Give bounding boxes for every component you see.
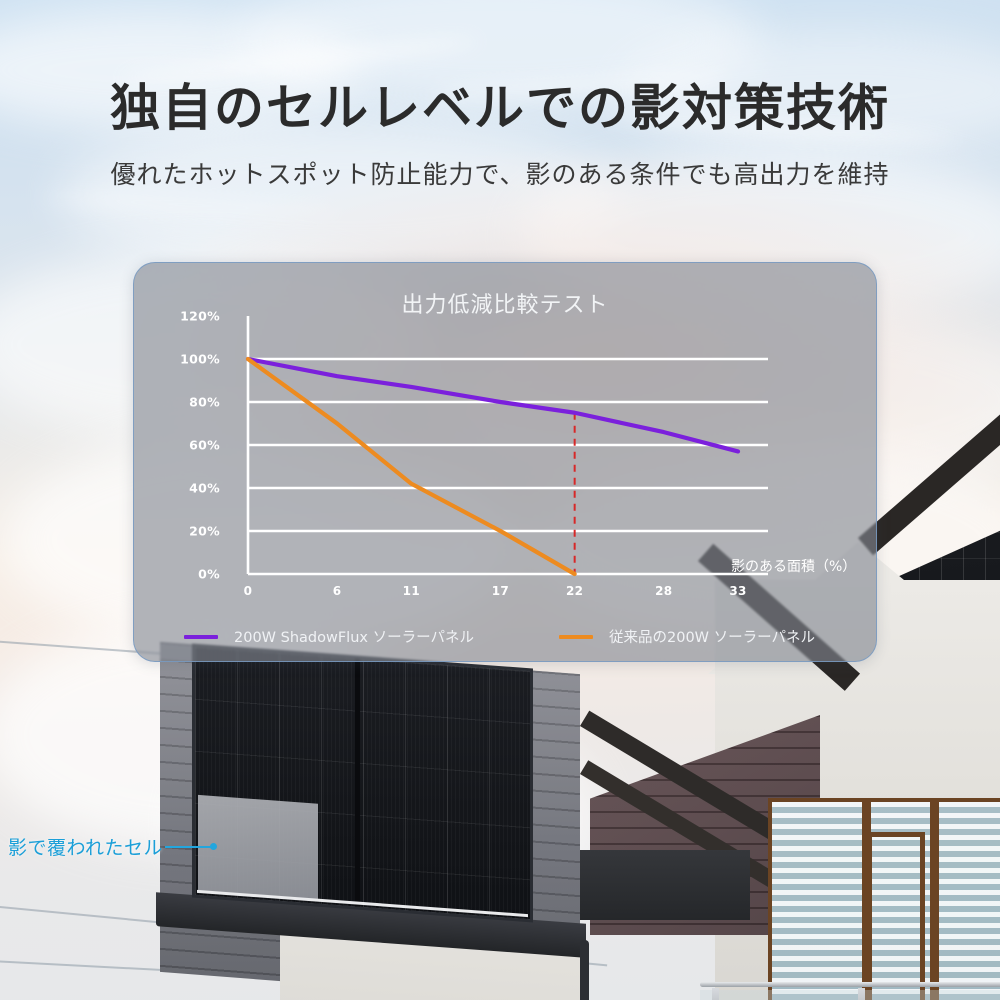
chart-x-tick-label: 6 [333,584,342,598]
chart-card: 出力低減比較テスト 0%20%40%60%80%100%120% 0611172… [133,262,877,662]
chart-y-tick-label: 20% [189,524,220,539]
legend-swatch-orange [559,635,593,639]
roof-solar-panels-left [192,643,533,922]
chart-x-tick-label: 17 [492,584,509,598]
chart-x-tick-label: 11 [403,584,420,598]
legend-label-shadowflux: 200W ShadowFlux ソーラーパネル [234,626,474,647]
chart-x-tick-label: 28 [655,584,672,598]
downpipe [580,940,589,1000]
legend-item-shadowflux[interactable]: 200W ShadowFlux ソーラーパネル [184,626,474,647]
rail-post [858,988,865,1000]
chart-y-tick-label: 0% [198,567,220,582]
chart-x-axis-title: 影のある面積（%） [731,556,856,576]
page-subtitle: 優れたホットスポット防止能力で、影のある条件でも高出力を維持 [0,155,1000,191]
house-window [768,798,1000,1000]
annotation-leader-line [165,846,211,848]
balcony-rail [700,982,1000,987]
chart-plot-svg [134,263,876,661]
chart-y-tick-label: 40% [189,481,220,496]
rail-post [712,988,719,1000]
house-left [160,640,640,1000]
chart-x-tick-label: 33 [729,584,746,598]
chart-gridlines [248,359,768,574]
legend-item-conventional[interactable]: 従来品の200W ソーラーパネル [559,626,815,647]
chart-y-tick-label: 80% [189,395,220,410]
window-mullion [930,802,939,1000]
chart-y-tick-label: 60% [189,438,220,453]
product-feature-slide: 影で覆われたセル 独自のセルレベルでの影対策技術 優れたホットスポット防止能力で… [0,0,1000,1000]
chart-x-tick-label: 22 [566,584,583,598]
panel-seam [355,658,360,906]
legend-label-conventional: 従来品の200W ソーラーパネル [609,626,815,647]
chart-legend: 200W ShadowFlux ソーラーパネル 従来品の200W ソーラーパネル [134,618,876,648]
chart-y-tick-label: 100% [180,352,220,367]
chart-y-tick-label: 120% [180,309,220,324]
balcony-glass [700,990,1000,1000]
shaded-cell-annotation: 影で覆われたセル [8,833,217,860]
chart-series-lines [248,359,738,574]
chart-x-tick-label: 0 [244,584,253,598]
window-inner-frame [867,832,925,1000]
page-title: 独自のセルレベルでの影対策技術 [0,68,1000,140]
legend-swatch-purple [184,635,218,639]
shaded-cell-annotation-label: 影で覆われたセル [8,833,163,860]
annotation-pointer-dot [210,843,217,850]
